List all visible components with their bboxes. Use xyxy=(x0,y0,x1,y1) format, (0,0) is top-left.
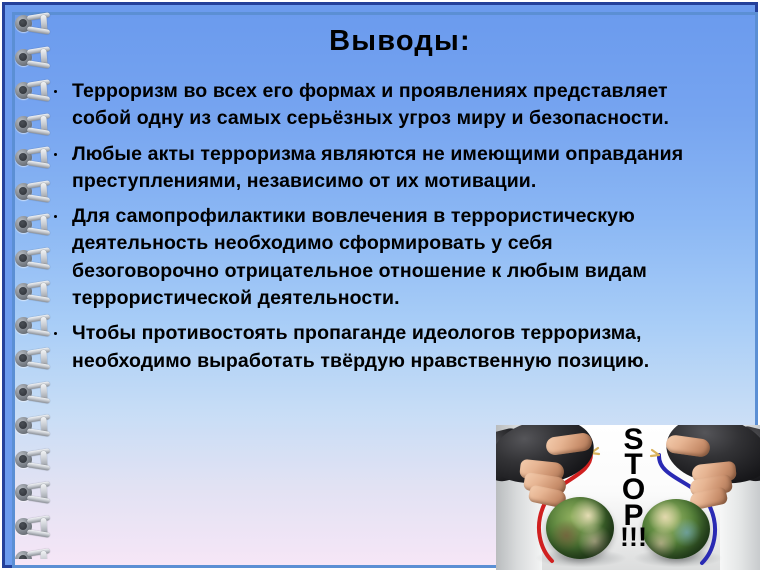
binding-wire xyxy=(27,214,53,236)
list-item-text: Терроризм во всех его формах и проявлени… xyxy=(72,78,684,133)
list-item-text: Для самопрофилактики вовлечения в террор… xyxy=(72,203,684,312)
binding-ring xyxy=(15,214,53,236)
binding-ring xyxy=(15,13,53,35)
slide-canvas: Выводы: Терроризм во всех его формах и п… xyxy=(0,0,760,570)
binding-wire xyxy=(27,13,53,35)
globe-right xyxy=(642,499,710,559)
binding-ring xyxy=(15,315,53,337)
binding-ring xyxy=(15,549,53,559)
conclusions-list: Терроризм во всех его формах и проявлени… xyxy=(44,78,684,383)
stop-terrorism-photo: S T O P !!! xyxy=(496,425,760,570)
list-item-text: Любые акты терроризма являются не имеющи… xyxy=(72,141,684,196)
list-item: Для самопрофилактики вовлечения в террор… xyxy=(44,203,684,312)
binding-wire xyxy=(27,248,53,270)
binding-wire xyxy=(27,80,53,102)
binding-ring xyxy=(15,516,53,538)
binding-ring xyxy=(15,181,53,203)
binding-wire xyxy=(27,181,53,203)
binding-ring xyxy=(15,47,53,69)
binding-ring xyxy=(15,147,53,169)
spiral-binding xyxy=(11,11,55,559)
binding-wire xyxy=(27,382,53,404)
binding-ring xyxy=(15,482,53,504)
globe-left xyxy=(546,497,614,559)
binding-wire xyxy=(27,147,53,169)
binding-wire xyxy=(27,549,53,559)
list-item: Любые акты терроризма являются не имеющи… xyxy=(44,141,684,196)
binding-wire xyxy=(27,281,53,303)
binding-wire xyxy=(27,482,53,504)
stop-text: S T O P !!! xyxy=(620,427,646,547)
list-item: Терроризм во всех его формах и проявлени… xyxy=(44,78,684,133)
binding-wire xyxy=(27,114,53,136)
page-title: Выводы: xyxy=(120,26,680,58)
binding-ring xyxy=(15,281,53,303)
list-item-text: Чтобы противостоять пропаганде идеологов… xyxy=(72,320,684,375)
list-item: Чтобы противостоять пропаганде идеологов… xyxy=(44,320,684,375)
binding-wire xyxy=(27,348,53,370)
binding-ring xyxy=(15,248,53,270)
binding-ring xyxy=(15,114,53,136)
binding-ring xyxy=(15,348,53,370)
binding-ring xyxy=(15,449,53,471)
stop-exclamation: !!! xyxy=(620,528,646,547)
binding-ring xyxy=(15,80,53,102)
binding-wire xyxy=(27,516,53,538)
binding-wire xyxy=(27,449,53,471)
binding-ring xyxy=(15,415,53,437)
binding-wire xyxy=(27,47,53,69)
binding-wire xyxy=(27,315,53,337)
binding-ring xyxy=(15,382,53,404)
binding-wire xyxy=(27,415,53,437)
